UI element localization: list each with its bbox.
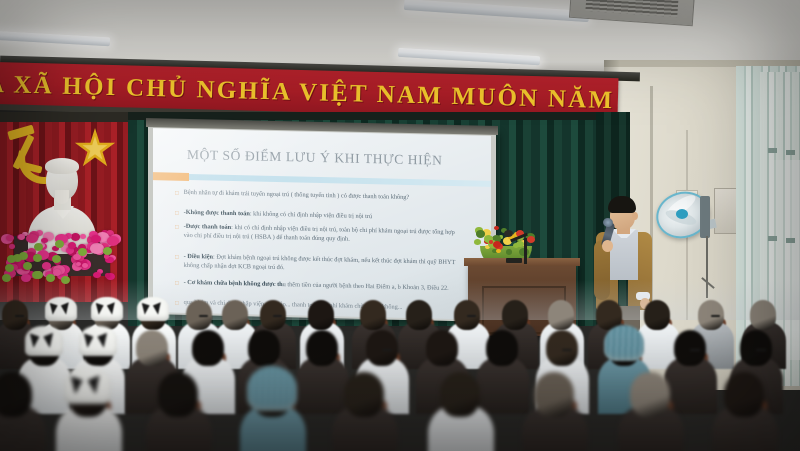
cap-fold xyxy=(61,302,69,314)
audience-head xyxy=(750,300,777,330)
audience-head xyxy=(308,300,335,330)
eyeglasses-icon xyxy=(199,315,208,317)
cap-fold xyxy=(107,302,115,314)
cap-fold xyxy=(142,303,150,315)
eyeglasses-icon xyxy=(273,315,282,317)
eyeglasses-icon xyxy=(15,315,24,317)
audience-head xyxy=(644,300,671,330)
eyeglasses-icon xyxy=(467,315,476,317)
foreground-blur xyxy=(0,330,800,451)
nurse-cap xyxy=(91,297,122,321)
cap-fold xyxy=(153,302,161,314)
audience-head xyxy=(548,300,575,330)
cap-fold xyxy=(50,303,58,315)
eyeglasses-icon xyxy=(711,315,720,317)
audience-head xyxy=(360,300,387,330)
conference-hall-photo: A XÃ HỘI CHỦ NGHĨA VIỆT NAM MUÔN NĂM ! M… xyxy=(0,0,800,451)
audience-head xyxy=(222,300,249,330)
nurse-cap xyxy=(45,297,76,321)
cap-fold xyxy=(96,303,104,315)
audience-head xyxy=(502,300,529,330)
nurse-cap xyxy=(137,297,168,321)
audience-head xyxy=(406,300,433,330)
